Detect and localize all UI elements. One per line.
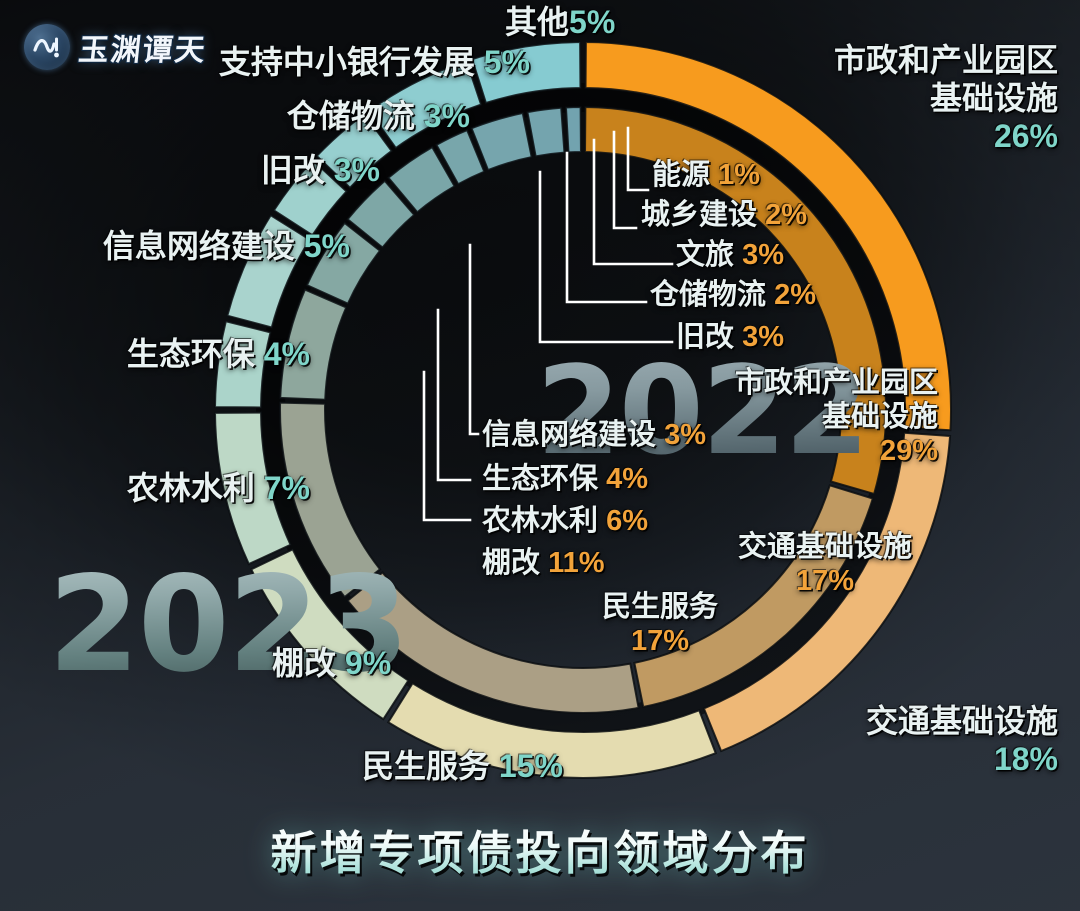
label-outer-ecology: 生态环保 4% (60, 336, 310, 374)
label-outer-warehouse: 仓储物流 3% (160, 98, 470, 136)
donut-slice (566, 107, 581, 152)
label-outer-transport: 交通基础设施 18% (700, 703, 1058, 779)
label-inner-shantytown: 棚改 11% (482, 546, 605, 580)
brand-logo: 玉渊谭天 (24, 24, 207, 70)
label-outer-municipal: 市政和产业园区 基础设施 26% (700, 42, 1058, 155)
infographic-canvas: 2023 2022 玉渊谭天 其他5% (0, 0, 1080, 911)
label-inner-culture-tourism: 文旅 3% (676, 238, 784, 272)
label-inner-agriculture: 农林水利 6% (482, 504, 648, 538)
label-inner-urban-rural: 城乡建设 2% (641, 198, 807, 232)
label-inner-old-renovation: 旧改 3% (676, 320, 784, 354)
label-inner-energy: 能源 1% (652, 158, 760, 192)
brand-wordmark: 玉渊谭天 (77, 25, 210, 69)
label-inner-warehouse: 仓储物流 2% (650, 278, 816, 312)
label-outer-livelihood: 民生服务 15% (362, 748, 563, 786)
label-inner-info-network: 信息网络建设 3% (482, 418, 706, 452)
label-outer-agriculture: 农林水利 7% (60, 470, 310, 508)
label-outer-small-bank: 支持中小银行发展 5% (160, 44, 530, 82)
label-inner-transport: 交通基础设施 17% (700, 530, 950, 598)
donut-slice (527, 108, 564, 157)
label-outer-other: 其他5% (505, 4, 615, 42)
label-inner-livelihood: 民生服务 17% (560, 590, 760, 658)
label-outer-old-renovation: 旧改 3% (130, 152, 380, 190)
label-outer-info-network: 信息网络建设 5% (40, 228, 350, 266)
wave-logo-icon (24, 24, 70, 70)
label-inner-ecology: 生态环保 4% (482, 462, 648, 496)
page-title: 新增专项债投向领域分布 (0, 817, 1080, 883)
label-outer-shantytown: 棚改 9% (272, 645, 391, 683)
